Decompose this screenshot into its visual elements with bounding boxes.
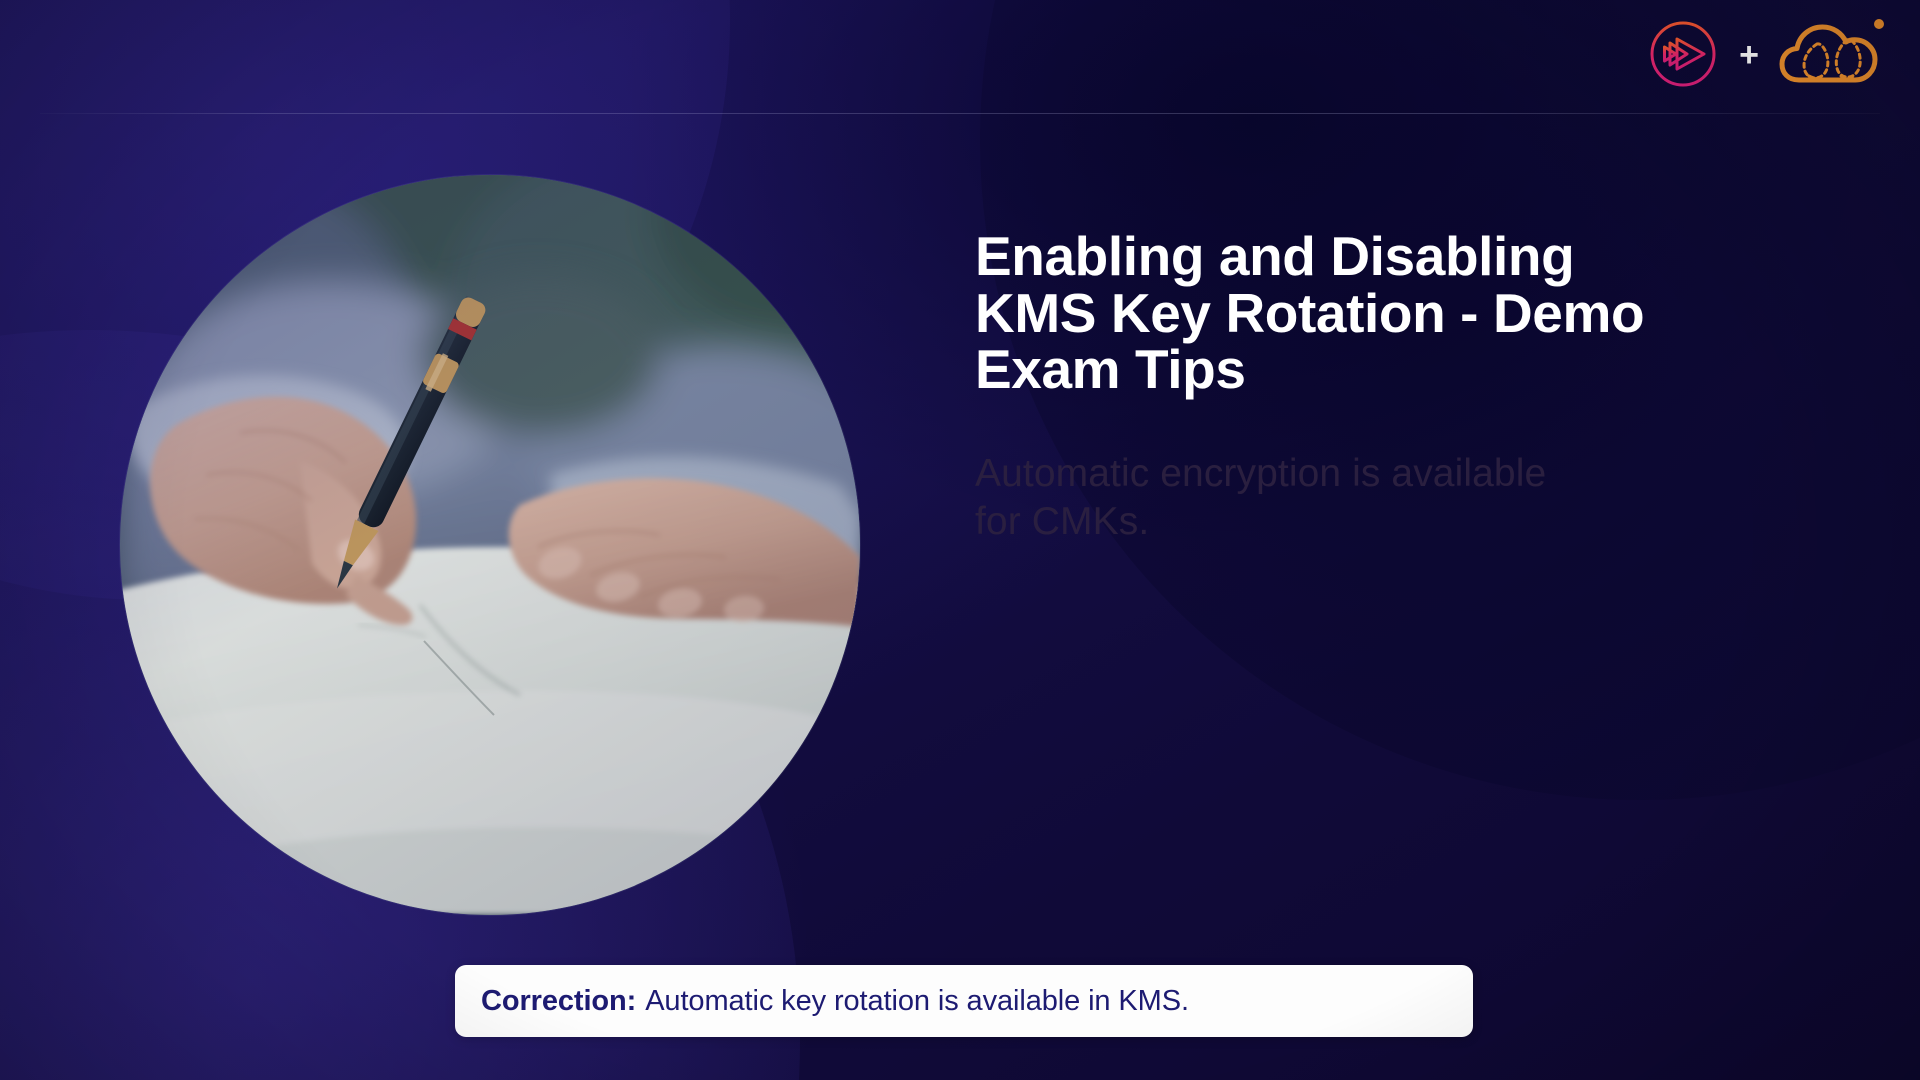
circular-photo xyxy=(120,175,860,915)
correction-text: Automatic key rotation is available in K… xyxy=(645,985,1189,1018)
correction-banner: Correction: Automatic key rotation is av… xyxy=(455,965,1473,1037)
brand-lockup: + xyxy=(1647,18,1887,90)
correction-label: Correction: xyxy=(481,985,636,1018)
header-divider xyxy=(40,113,1880,114)
play-logo-icon xyxy=(1647,18,1719,90)
title-block: Enabling and Disabling KMS Key Rotation … xyxy=(975,228,1795,547)
slide-root: + xyxy=(0,0,1920,1080)
slide-subtitle: Automatic encryption is available for CM… xyxy=(975,450,1795,547)
plus-symbol-icon: + xyxy=(1739,38,1759,72)
cloud-logo-icon xyxy=(1779,18,1887,90)
page-title: Enabling and Disabling KMS Key Rotation … xyxy=(975,228,1795,398)
